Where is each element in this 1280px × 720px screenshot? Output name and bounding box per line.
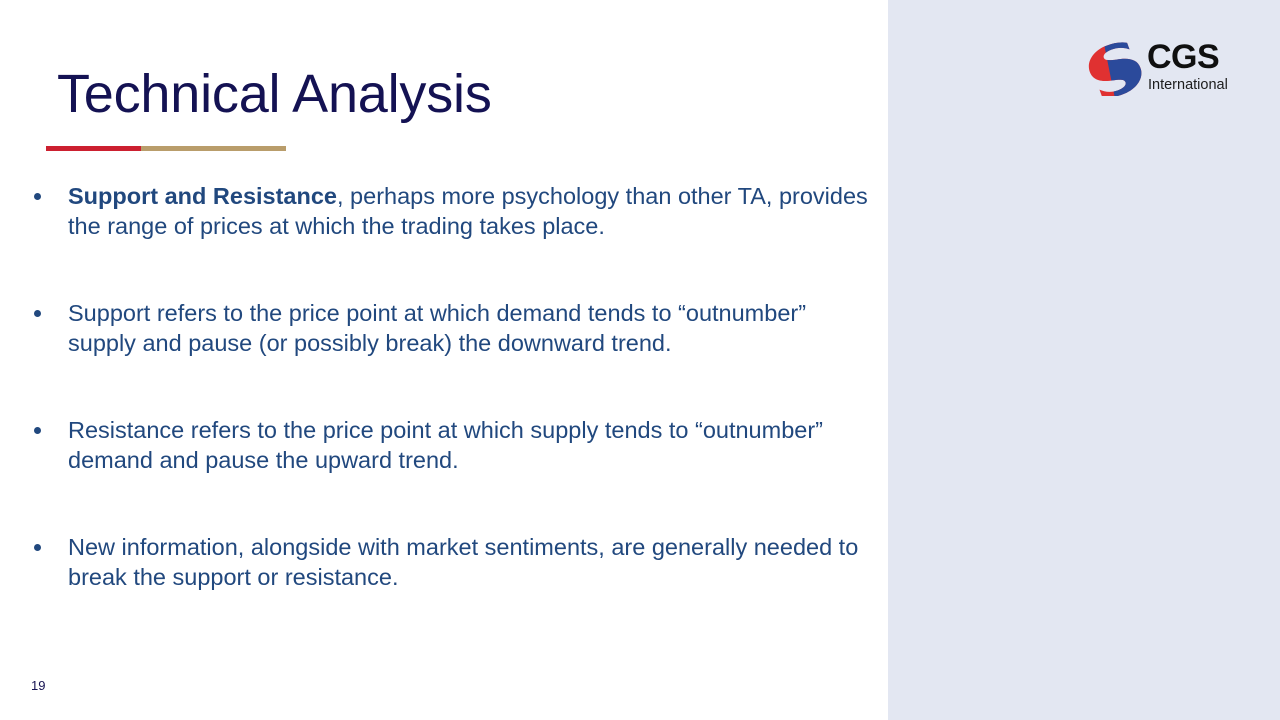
cgs-international-logo: CGS International [1085, 38, 1245, 100]
list-item-text: Support refers to the price point at whi… [68, 299, 874, 358]
title-underline [46, 146, 286, 151]
cgs-swirl-icon [1085, 40, 1145, 96]
logo-wordmark: CGS International [1147, 38, 1247, 94]
slide: CGS International Technical Analysis Sup… [0, 0, 1280, 720]
list-item: Support and Resistance, perhaps more psy… [24, 182, 874, 241]
list-item-text: New information, alongside with market s… [68, 533, 874, 592]
bullet-dot-icon [34, 427, 41, 434]
title-underline-red [46, 146, 141, 151]
page-title: Technical Analysis [57, 62, 492, 126]
logo-name: CGS [1147, 38, 1247, 76]
list-item-text: Support and Resistance, perhaps more psy… [68, 182, 874, 241]
list-item-lead: Support and Resistance [68, 183, 337, 209]
bullet-list: Support and Resistance, perhaps more psy… [24, 182, 874, 592]
bullet-dot-icon [34, 544, 41, 551]
bullet-dot-icon [34, 193, 41, 200]
title-underline-gold [141, 146, 286, 151]
list-item: Resistance refers to the price point at … [24, 416, 874, 475]
list-item-text: Resistance refers to the price point at … [68, 416, 874, 475]
page-number: 19 [31, 677, 45, 694]
logo-subtitle: International [1148, 77, 1247, 94]
list-item: Support refers to the price point at whi… [24, 299, 874, 358]
bullet-dot-icon [34, 310, 41, 317]
list-item: New information, alongside with market s… [24, 533, 874, 592]
decorative-side-panel [888, 0, 1280, 720]
